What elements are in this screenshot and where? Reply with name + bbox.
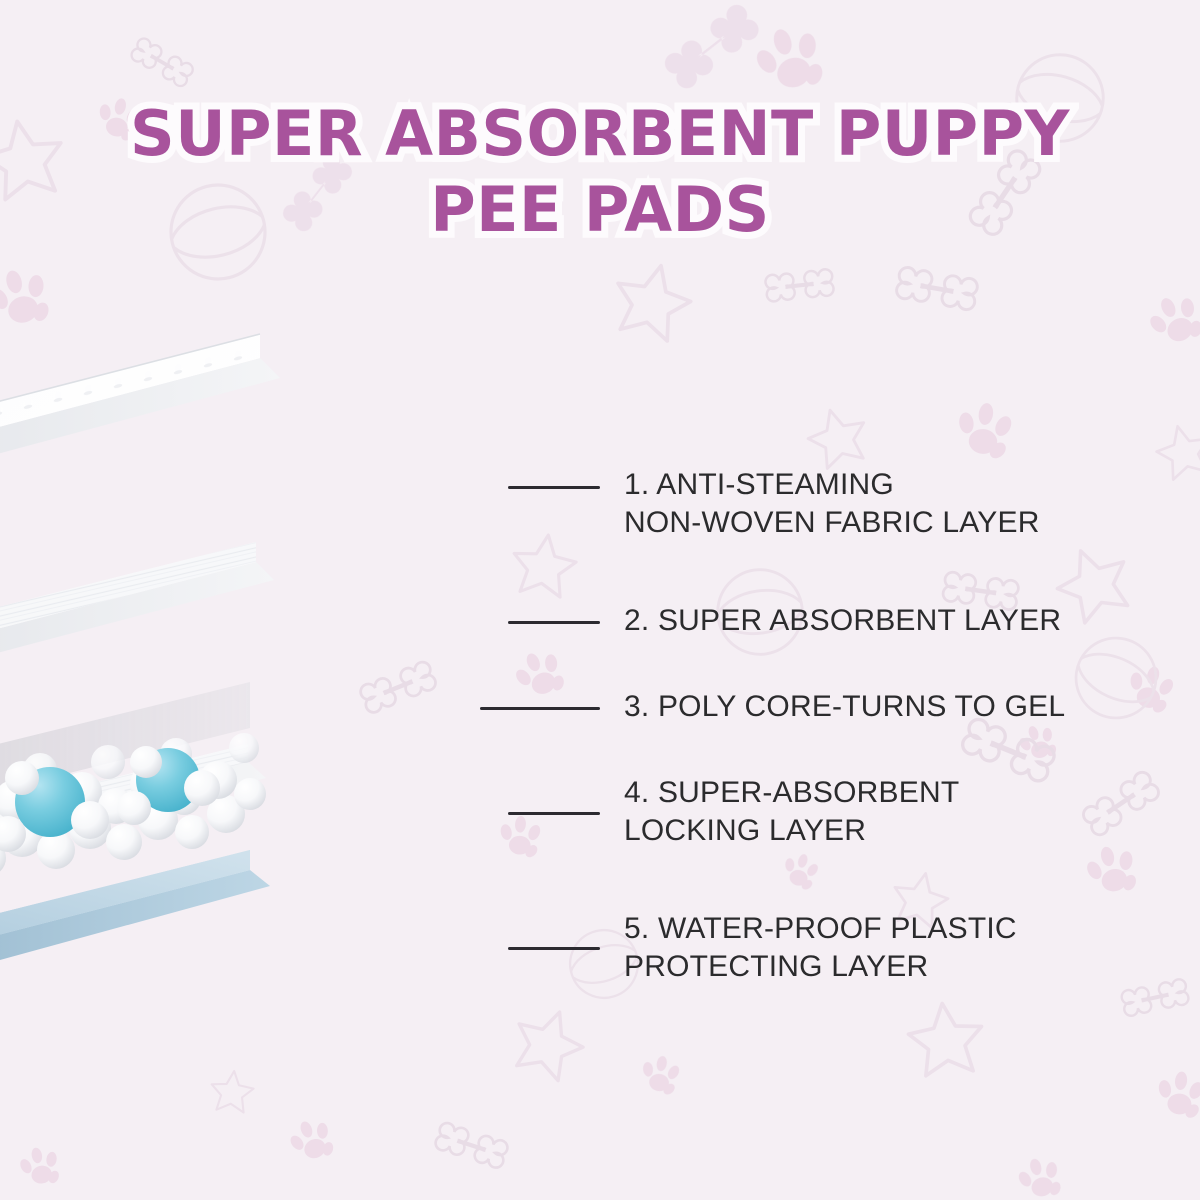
callout-label-poly-core-turns-to-gel: 3. POLY CORE-TURNS TO GEL xyxy=(624,688,1144,726)
callout-label-super-absorbent-layer: 2. SUPER ABSORBENT LAYER xyxy=(624,602,1144,640)
leader-line-5 xyxy=(508,947,600,950)
callout-label-super-absorbent-locking-layer: 4. SUPER-ABSORBENT LOCKING LAYER xyxy=(624,774,1144,850)
callout-label-water-proof-plastic-protecting-layer: 5. WATER-PROOF PLASTIC PROTECTING LAYER xyxy=(624,910,1144,986)
infographic-page: SUPER ABSORBENT PUPPY PEE PADS 1. ANTI-S… xyxy=(0,0,1200,1200)
callout-list: 1. ANTI-STEAMING NON-WOVEN FABRIC LAYER … xyxy=(0,0,1200,1200)
leader-line-2 xyxy=(508,621,600,624)
leader-line-4 xyxy=(508,812,600,815)
leader-line-1 xyxy=(508,486,600,489)
leader-line-3 xyxy=(480,707,600,710)
callout-label-anti-steaming-non-woven-fabric-layer: 1. ANTI-STEAMING NON-WOVEN FABRIC LAYER xyxy=(624,466,1144,542)
